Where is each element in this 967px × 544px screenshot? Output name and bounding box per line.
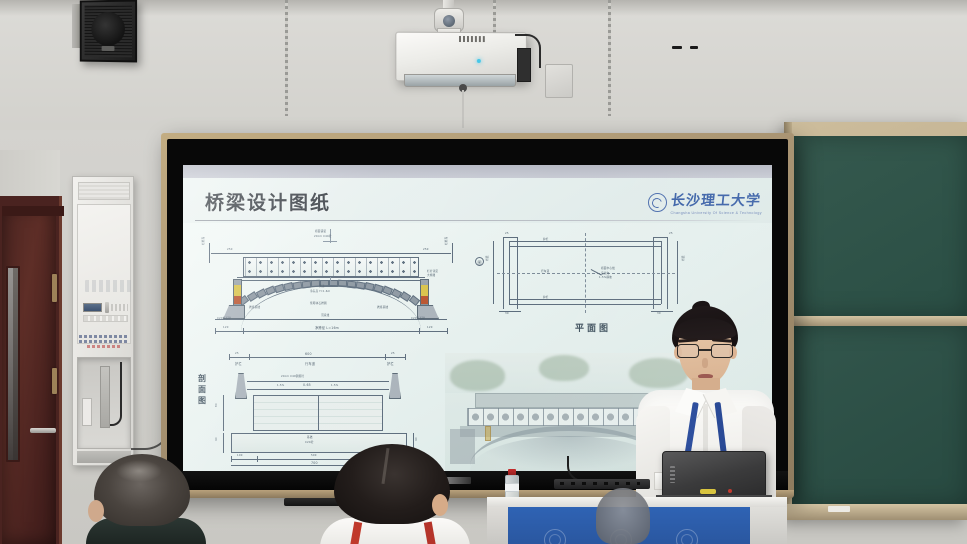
section-view-label: 剖面图 bbox=[198, 373, 207, 406]
plan-note-arrow: 桥面中心线 bbox=[601, 266, 615, 270]
podium-side-right bbox=[750, 507, 787, 544]
plan-dim-right-t: 桥宽 bbox=[681, 255, 685, 261]
sect-parapet-left bbox=[235, 373, 247, 399]
plan-dim-right bbox=[677, 241, 678, 304]
sect-note-pave: 20cm C40钢筋砼 bbox=[281, 374, 304, 378]
sect-vdim-rt: 40 bbox=[415, 437, 418, 441]
elev-leader-top bbox=[323, 241, 337, 242]
slide-top-band bbox=[183, 165, 772, 178]
cabinet-mini-buttons[interactable] bbox=[111, 304, 128, 311]
classroom-scene: 桥梁设计图纸 长沙理工大学 Changsha University Of Sci… bbox=[0, 0, 967, 544]
elev-dim-span: 净跨径 L=16m bbox=[315, 325, 339, 330]
door-hinge-upper bbox=[52, 274, 57, 302]
sect-label-r: 护栏 bbox=[387, 361, 394, 366]
door-handle[interactable] bbox=[30, 428, 56, 433]
elev-note-top: 桥面铺装 bbox=[315, 229, 326, 233]
elev-crown-note3: 浆砌块石拱圈 bbox=[310, 301, 327, 305]
cabinet-lower-compartment[interactable] bbox=[77, 357, 131, 449]
elev-tick-3 bbox=[419, 328, 420, 334]
sect-slope-l: 1.5% bbox=[277, 384, 284, 387]
audience-1-hair-sheen bbox=[116, 460, 162, 482]
elev-tick-1 bbox=[215, 328, 216, 334]
slide-title-rule bbox=[195, 220, 760, 221]
chalk-piece[interactable] bbox=[828, 506, 850, 512]
elev-dim-right-t: 栏杆高 bbox=[444, 237, 448, 245]
elev-crown-note2: 净矢高 f=1.6m bbox=[310, 289, 330, 293]
door-window-glare bbox=[8, 268, 13, 460]
sect-vdim-lt2: 40 bbox=[215, 437, 218, 441]
university-emblem-icon bbox=[648, 193, 667, 212]
elev-balustrade-railing bbox=[243, 257, 419, 277]
wall-speaker bbox=[80, 0, 137, 62]
plan-dim-tr: 25 bbox=[669, 232, 673, 235]
elev-note-top2: 20cm C40砼 bbox=[314, 234, 332, 238]
elev-spring-note-r: 拱座基础 bbox=[377, 305, 388, 309]
elev-base-note-l: C20片石砼 bbox=[217, 316, 231, 320]
sect-tick-a bbox=[229, 354, 230, 360]
sect-vdim-l2 bbox=[223, 433, 224, 453]
cabinet-vent bbox=[78, 182, 130, 200]
sect-crown: 0.65 bbox=[303, 383, 311, 387]
elev-dim-120-r: 120 bbox=[427, 326, 433, 329]
elev-ground-note: 河床线 bbox=[321, 313, 329, 317]
plan-note-top: 护栏 bbox=[543, 237, 549, 241]
label-line-3 bbox=[87, 345, 121, 348]
av-control-cabinet[interactable] bbox=[72, 176, 134, 466]
elev-crown-leader bbox=[330, 277, 331, 285]
audience-2-ear bbox=[432, 494, 448, 516]
cabinet-power-strip bbox=[100, 366, 110, 428]
projector-status-led bbox=[477, 59, 481, 63]
elev-deck-line bbox=[237, 277, 425, 278]
laptop-brand-mark bbox=[670, 466, 675, 483]
cabinet-control-panel[interactable] bbox=[77, 301, 131, 331]
elev-dim-left-v bbox=[209, 243, 210, 263]
projector-mount-joint bbox=[443, 15, 455, 27]
sect-slope-r: 1.5% bbox=[331, 384, 338, 387]
cabinet-inner-box bbox=[82, 398, 92, 426]
plan-abut-cap-r bbox=[653, 237, 667, 238]
sect-label-c: 行车道 bbox=[305, 361, 315, 366]
sect-bdim-l: 100 bbox=[237, 454, 243, 457]
audience-2-hair bbox=[334, 444, 450, 524]
plan-dim-tl: 25 bbox=[505, 232, 509, 235]
sect-found-note2: C20砼 bbox=[305, 440, 314, 444]
audience-person-2 bbox=[322, 444, 462, 544]
speaker-badge bbox=[102, 46, 115, 51]
sect-deck-top bbox=[247, 381, 389, 382]
sect-btick-a bbox=[231, 456, 232, 462]
elev-pier-left-accent bbox=[234, 285, 241, 296]
sect-tick-b bbox=[249, 354, 250, 360]
sect-bdim-c: 500 bbox=[311, 454, 317, 457]
figure-elevation: 桥面铺装 20cm C40砼 栏杆高 栏杆高 250 250 bbox=[197, 227, 465, 347]
red-indicator bbox=[728, 489, 732, 493]
elev-crown-note: 拱顶 bbox=[319, 284, 325, 288]
elev-spring-note-l: 拱座基础 bbox=[249, 305, 260, 309]
plan-note-bottom: 护栏 bbox=[543, 295, 549, 299]
plan-abut-cap-l bbox=[503, 237, 517, 238]
photo-marker-post bbox=[485, 426, 491, 441]
sect-tick-d bbox=[405, 354, 406, 360]
dock-ports[interactable] bbox=[560, 482, 640, 485]
sect-btick-b bbox=[257, 456, 258, 462]
plan-bdim-lt: 30 bbox=[505, 312, 509, 315]
label-line-1 bbox=[79, 335, 129, 338]
audience-1-ear bbox=[88, 500, 104, 522]
plan-center-v bbox=[585, 233, 586, 313]
sect-parapet-right bbox=[389, 373, 401, 399]
sect-found-note: 基础 bbox=[307, 435, 313, 439]
cabinet-lcd-screen bbox=[83, 303, 102, 312]
speaker-cone bbox=[91, 11, 125, 45]
cabinet-faded-text bbox=[85, 280, 133, 292]
elev-base-note-r: C20片石砼 bbox=[411, 316, 425, 320]
audience-3-head bbox=[596, 488, 650, 544]
ceiling-chain-right bbox=[608, 0, 611, 116]
photo-tree-left bbox=[450, 360, 505, 391]
wall-outlet-plate[interactable] bbox=[545, 64, 573, 98]
elev-dim-250-r: 250 bbox=[423, 248, 429, 251]
elev-tick-2 bbox=[243, 328, 244, 334]
plan-dim-left-t: 桥宽 bbox=[485, 255, 489, 261]
slide-header: 桥梁设计图纸 长沙理工大学 Changsha University Of Sci… bbox=[183, 178, 772, 222]
sect-tick-c bbox=[385, 354, 386, 360]
elev-pier-right-accent2 bbox=[421, 296, 428, 304]
laptop-port-2[interactable] bbox=[690, 46, 698, 49]
sect-dim-top bbox=[229, 357, 405, 358]
slide-title: 桥梁设计图纸 bbox=[205, 188, 331, 215]
elev-tick-4 bbox=[447, 328, 448, 334]
plan-dim-left bbox=[493, 241, 494, 304]
sect-dim-25l: 25 bbox=[235, 352, 239, 355]
door-hinge-lower bbox=[52, 368, 57, 394]
elev-note-right2: 大样图 bbox=[427, 273, 435, 277]
sect-bdim-total: 700 bbox=[311, 461, 318, 465]
presenter-fringe bbox=[674, 318, 736, 340]
plan-centerline bbox=[497, 273, 675, 274]
ceiling-shadow bbox=[0, 0, 967, 16]
blackboard-chalk-tray bbox=[786, 504, 967, 520]
banner-logo-3-icon bbox=[676, 529, 698, 544]
university-name-cn: 长沙理工大学 bbox=[669, 190, 763, 210]
elev-dim-right-v bbox=[452, 243, 453, 263]
blackboard-panel-bottom[interactable] bbox=[792, 326, 967, 504]
plan-view-label: 平面图 bbox=[575, 321, 611, 334]
university-name-en: Changsha University Of Science & Technol… bbox=[671, 211, 762, 215]
projector-cable bbox=[515, 34, 541, 68]
cabinet-cable bbox=[110, 362, 122, 426]
podium-side-left bbox=[487, 507, 508, 544]
label-line-2 bbox=[79, 340, 129, 343]
elev-dim-chain bbox=[215, 331, 447, 332]
audience-person-3 bbox=[596, 488, 650, 544]
projector-vent bbox=[459, 36, 487, 42]
photo-bridge-deck bbox=[475, 393, 663, 408]
photo-tree-mid bbox=[539, 355, 589, 381]
laptop-port-1[interactable] bbox=[672, 46, 682, 49]
sect-deck-top2 bbox=[247, 389, 389, 390]
plan-view-marker: 图 bbox=[475, 257, 484, 266]
sect-vdim-lt: 80 bbox=[215, 403, 218, 407]
elev-dim-line-top bbox=[211, 253, 451, 254]
yellow-marker[interactable] bbox=[700, 489, 716, 494]
bottle-label bbox=[505, 483, 519, 492]
cabinet-button-row[interactable] bbox=[83, 315, 128, 322]
elev-dim-left-t: 栏杆高 bbox=[201, 237, 205, 245]
sect-label-l: 护栏 bbox=[235, 361, 242, 366]
projector-drop-wire bbox=[462, 90, 464, 128]
cabinet-knob[interactable] bbox=[105, 302, 109, 313]
glasses-lens-left bbox=[677, 344, 699, 358]
cabinet-instruction-label bbox=[79, 335, 129, 350]
audience-person-1 bbox=[86, 454, 198, 544]
ceiling-chain-left bbox=[285, 0, 288, 116]
glasses-bridge bbox=[699, 349, 711, 351]
university-logo: 长沙理工大学 Changsha University Of Science & … bbox=[648, 190, 762, 215]
sect-vdim-l bbox=[223, 395, 224, 431]
plan-bdim-l bbox=[499, 311, 521, 312]
elev-pier-right-accent bbox=[421, 285, 428, 296]
sect-dim-25r: 25 bbox=[391, 352, 395, 355]
elev-pier-left-accent2 bbox=[234, 296, 241, 304]
sect-body-mid bbox=[318, 395, 319, 431]
sect-dim-width: 600 bbox=[305, 352, 312, 356]
blackboard-panel-top[interactable] bbox=[792, 136, 967, 316]
presenter-nose bbox=[702, 358, 708, 368]
banner-logo-1-icon bbox=[544, 529, 566, 544]
glasses-lens-right bbox=[711, 344, 733, 358]
door-top-trim bbox=[2, 206, 64, 216]
elev-dim-250-l: 250 bbox=[227, 248, 233, 251]
presenter-glasses-icon bbox=[676, 344, 734, 358]
elev-dim-120-l: 120 bbox=[223, 326, 229, 329]
plan-note-mid: 行车道 bbox=[541, 269, 549, 273]
